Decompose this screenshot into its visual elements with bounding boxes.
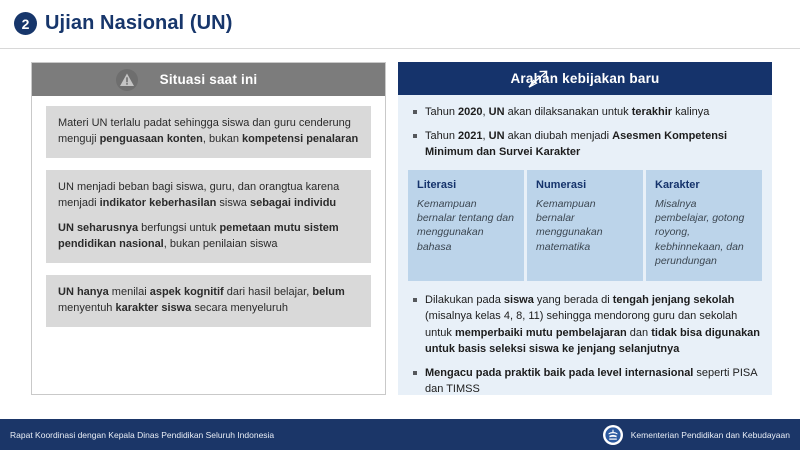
- warning-triangle-icon: [116, 69, 138, 91]
- situation-card-paragraph: UN seharusnya berfungsi untuk pemetaan m…: [58, 221, 359, 253]
- competency-card-description: Kemampuan bernalar menggunakan matematik…: [536, 197, 634, 255]
- competency-card: LiterasiKemampuan bernalar tentang dan m…: [408, 170, 524, 281]
- policy-bullet-item: Dilakukan pada siswa yang berada di teng…: [408, 292, 762, 358]
- new-policy-body: Tahun 2020, UN akan dilaksanakan untuk t…: [398, 95, 772, 398]
- current-situation-panel: Situasi saat ini Materi UN terlalu padat…: [31, 62, 386, 395]
- plain-text: Tahun: [425, 106, 458, 118]
- plain-text: dari hasil belajar,: [224, 286, 313, 298]
- footer-ministry-block: Kementerian Pendidikan dan Kebudayaan: [603, 425, 790, 445]
- plain-text: akan dilaksanakan untuk: [505, 106, 632, 118]
- emphasis-text: siswa: [504, 294, 534, 306]
- emphasis-text: indikator keberhasilan: [100, 197, 217, 209]
- title-divider: [0, 48, 800, 49]
- emphasis-text: UN: [489, 130, 505, 142]
- emphasis-text: UN hanya: [58, 286, 109, 298]
- competency-card-description: Kemampuan bernalar tentang dan menggunak…: [417, 197, 515, 255]
- plain-text: kalinya: [672, 106, 709, 118]
- policy-bullet-item: Tahun 2020, UN akan dilaksanakan untuk t…: [408, 104, 762, 121]
- situation-card-paragraph: UN hanya menilai aspek kognitif dari has…: [58, 285, 359, 317]
- plain-text: menyentuh: [58, 302, 115, 314]
- plain-text: menilai: [109, 286, 150, 298]
- situation-card: Materi UN terlalu padat sehingga siswa d…: [46, 106, 371, 158]
- tut-wuri-handayani-logo: [603, 425, 623, 445]
- trend-up-arrow-icon: [526, 68, 552, 90]
- plain-text: siswa: [216, 197, 250, 209]
- page-title: 2 Ujian Nasional (UN): [14, 12, 232, 35]
- competency-card-description: Misalnya pembelajar, gotong royong, kebh…: [655, 197, 753, 269]
- policy-bullet-item: Tahun 2021, UN akan diubah menjadi Asesm…: [408, 128, 762, 161]
- current-situation-header: Situasi saat ini: [32, 63, 385, 96]
- situation-card: UN menjadi beban bagi siswa, guru, dan o…: [46, 170, 371, 263]
- footer-event-label: Rapat Koordinasi dengan Kepala Dinas Pen…: [10, 430, 274, 440]
- situation-card-paragraph: Materi UN terlalu padat sehingga siswa d…: [58, 116, 359, 148]
- emphasis-text: aspek kognitif: [150, 286, 224, 298]
- competency-card-title: Numerasi: [536, 179, 634, 191]
- plain-text: , bukan penilaian siswa: [164, 238, 278, 250]
- current-situation-title: Situasi saat ini: [32, 72, 385, 87]
- emphasis-text: Mengacu pada praktik baik pada level int…: [425, 367, 693, 379]
- situation-card: UN hanya menilai aspek kognitif dari has…: [46, 275, 371, 327]
- emphasis-text: penguasaan konten: [100, 133, 203, 145]
- plain-text: yang berada di: [534, 294, 613, 306]
- emphasis-text: kompetensi penalaran: [242, 133, 358, 145]
- emphasis-text: memperbaiki mutu pembelajaran: [455, 327, 627, 339]
- policy-bullet-item: Mengacu pada praktik baik pada level int…: [408, 365, 762, 398]
- footer-ministry-label: Kementerian Pendidikan dan Kebudayaan: [631, 430, 790, 440]
- emphasis-text: belum: [312, 286, 344, 298]
- footer-bar: Rapat Koordinasi dengan Kepala Dinas Pen…: [0, 419, 800, 450]
- emphasis-text: sebagai individu: [250, 197, 336, 209]
- policy-bottom-bullet-list: Dilakukan pada siswa yang berada di teng…: [408, 292, 762, 398]
- competency-cards-row: LiterasiKemampuan bernalar tentang dan m…: [408, 170, 762, 281]
- plain-text: berfungsi untuk: [138, 222, 219, 234]
- situation-card-paragraph: UN menjadi beban bagi siswa, guru, dan o…: [58, 180, 359, 212]
- current-situation-body: Materi UN terlalu padat sehingga siswa d…: [32, 96, 385, 327]
- slide-title-text: Ujian Nasional (UN): [45, 12, 232, 35]
- plain-text: dan: [627, 327, 651, 339]
- emphasis-text: 2020: [458, 106, 482, 118]
- new-policy-header: Arahan kebijakan baru: [398, 62, 772, 95]
- new-policy-title: Arahan kebijakan baru: [398, 71, 772, 86]
- plain-text: secara menyeluruh: [191, 302, 288, 314]
- competency-card: NumerasiKemampuan bernalar menggunakan m…: [527, 170, 643, 281]
- emphasis-text: UN seharusnya: [58, 222, 138, 234]
- emphasis-text: UN: [489, 106, 505, 118]
- competency-card-title: Karakter: [655, 179, 753, 191]
- policy-top-bullet-list: Tahun 2020, UN akan dilaksanakan untuk t…: [408, 104, 762, 161]
- step-number-badge: 2: [14, 12, 37, 35]
- plain-text: Dilakukan pada: [425, 294, 504, 306]
- emphasis-text: 2021: [458, 130, 482, 142]
- competency-card-title: Literasi: [417, 179, 515, 191]
- competency-card: KarakterMisalnya pembelajar, gotong royo…: [646, 170, 762, 281]
- plain-text: Tahun: [425, 130, 458, 142]
- emphasis-text: karakter siswa: [115, 302, 191, 314]
- plain-text: , bukan: [203, 133, 242, 145]
- emphasis-text: tengah jenjang sekolah: [613, 294, 735, 306]
- plain-text: akan diubah menjadi: [505, 130, 613, 142]
- emphasis-text: terakhir: [632, 106, 672, 118]
- new-policy-panel: Arahan kebijakan baru Tahun 2020, UN aka…: [398, 62, 772, 395]
